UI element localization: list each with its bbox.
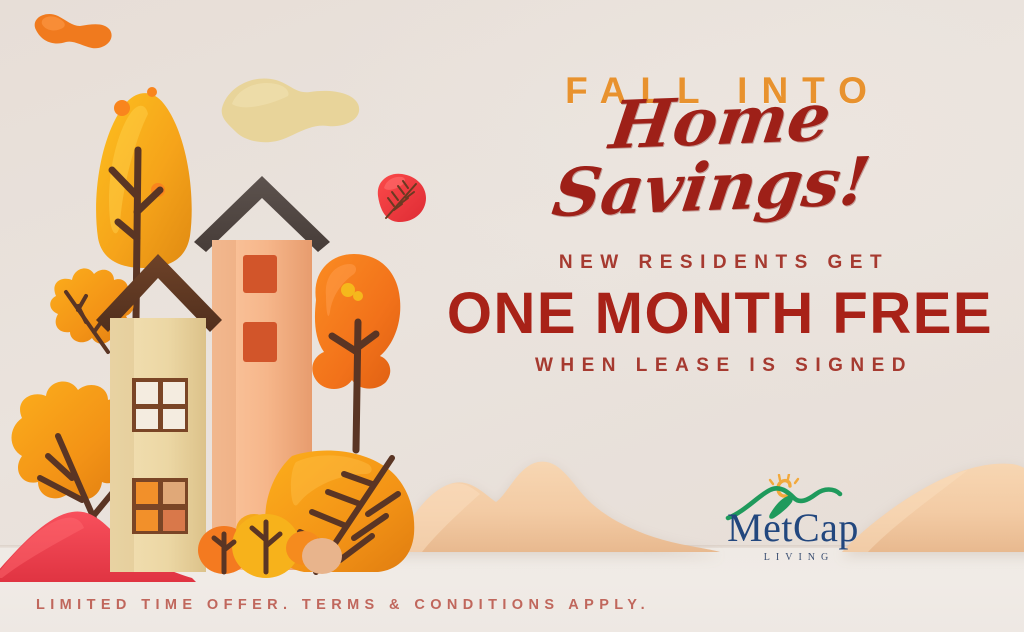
house-window-upper xyxy=(132,378,188,432)
metcap-logo[interactable]: MetCap LIVING xyxy=(718,474,868,566)
offer-headline: ONE MONTH FREE xyxy=(440,282,1000,347)
offer-block: NEW RESIDENTS GET ONE MONTH FREE WHEN LE… xyxy=(440,252,1000,377)
logo-tagline: LIVING xyxy=(718,552,874,563)
cream-house xyxy=(96,254,222,572)
tan-blob-cloud xyxy=(222,78,359,142)
orange-bone-cloud xyxy=(35,14,112,48)
promo-banner: FALL INTO Home Savings! NEW RESIDENTS GE… xyxy=(0,0,1024,632)
headline-home-savings: Home Savings! xyxy=(496,80,937,228)
disclaimer-text: LIMITED TIME OFFER. TERMS & CONDITIONS A… xyxy=(36,597,650,613)
offer-eyebrow: NEW RESIDENTS GET xyxy=(440,252,1000,274)
house-window-lower xyxy=(132,478,188,534)
offer-condition: WHEN LEASE IS SIGNED xyxy=(440,355,1000,377)
red-leaf xyxy=(378,174,426,222)
orange-blob-tree xyxy=(312,254,400,450)
logo-wordmark: MetCap xyxy=(718,508,868,548)
headline-group: FALL INTO Home Savings! xyxy=(506,72,926,182)
